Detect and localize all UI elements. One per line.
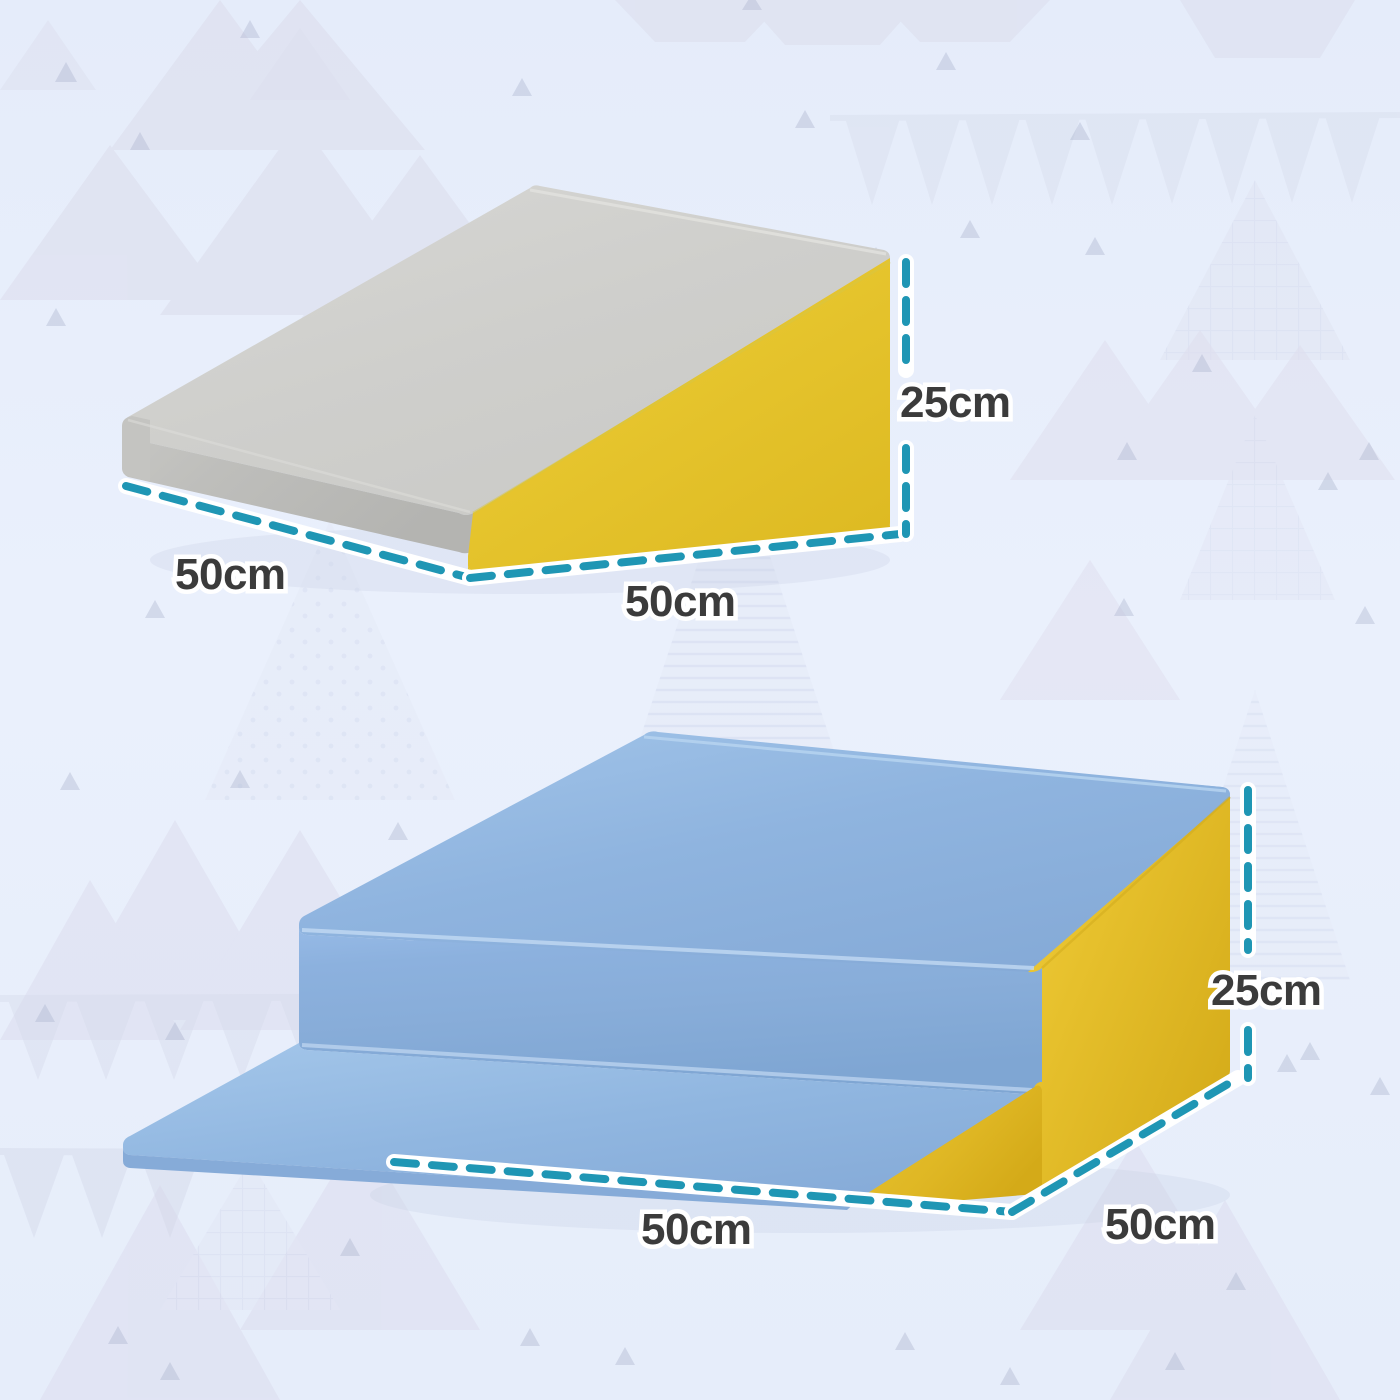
step-dimension-lines (0, 0, 1400, 1400)
step-width-label: 50cm 50cm (641, 1208, 771, 1258)
ramp-width-label: 50cm 50cm (625, 580, 755, 630)
step-depth-label: 50cm 50cm (1105, 1203, 1235, 1253)
ramp-depth-label: 50cm 50cm (175, 553, 305, 603)
step-height-label: 25cm 25cm (1211, 969, 1341, 1019)
diagram-canvas: 50cm 50cm 50cm 50cm 25cm 25cm 50cm 50cm … (0, 0, 1400, 1400)
ramp-height-label: 25cm 25cm (900, 381, 1030, 431)
